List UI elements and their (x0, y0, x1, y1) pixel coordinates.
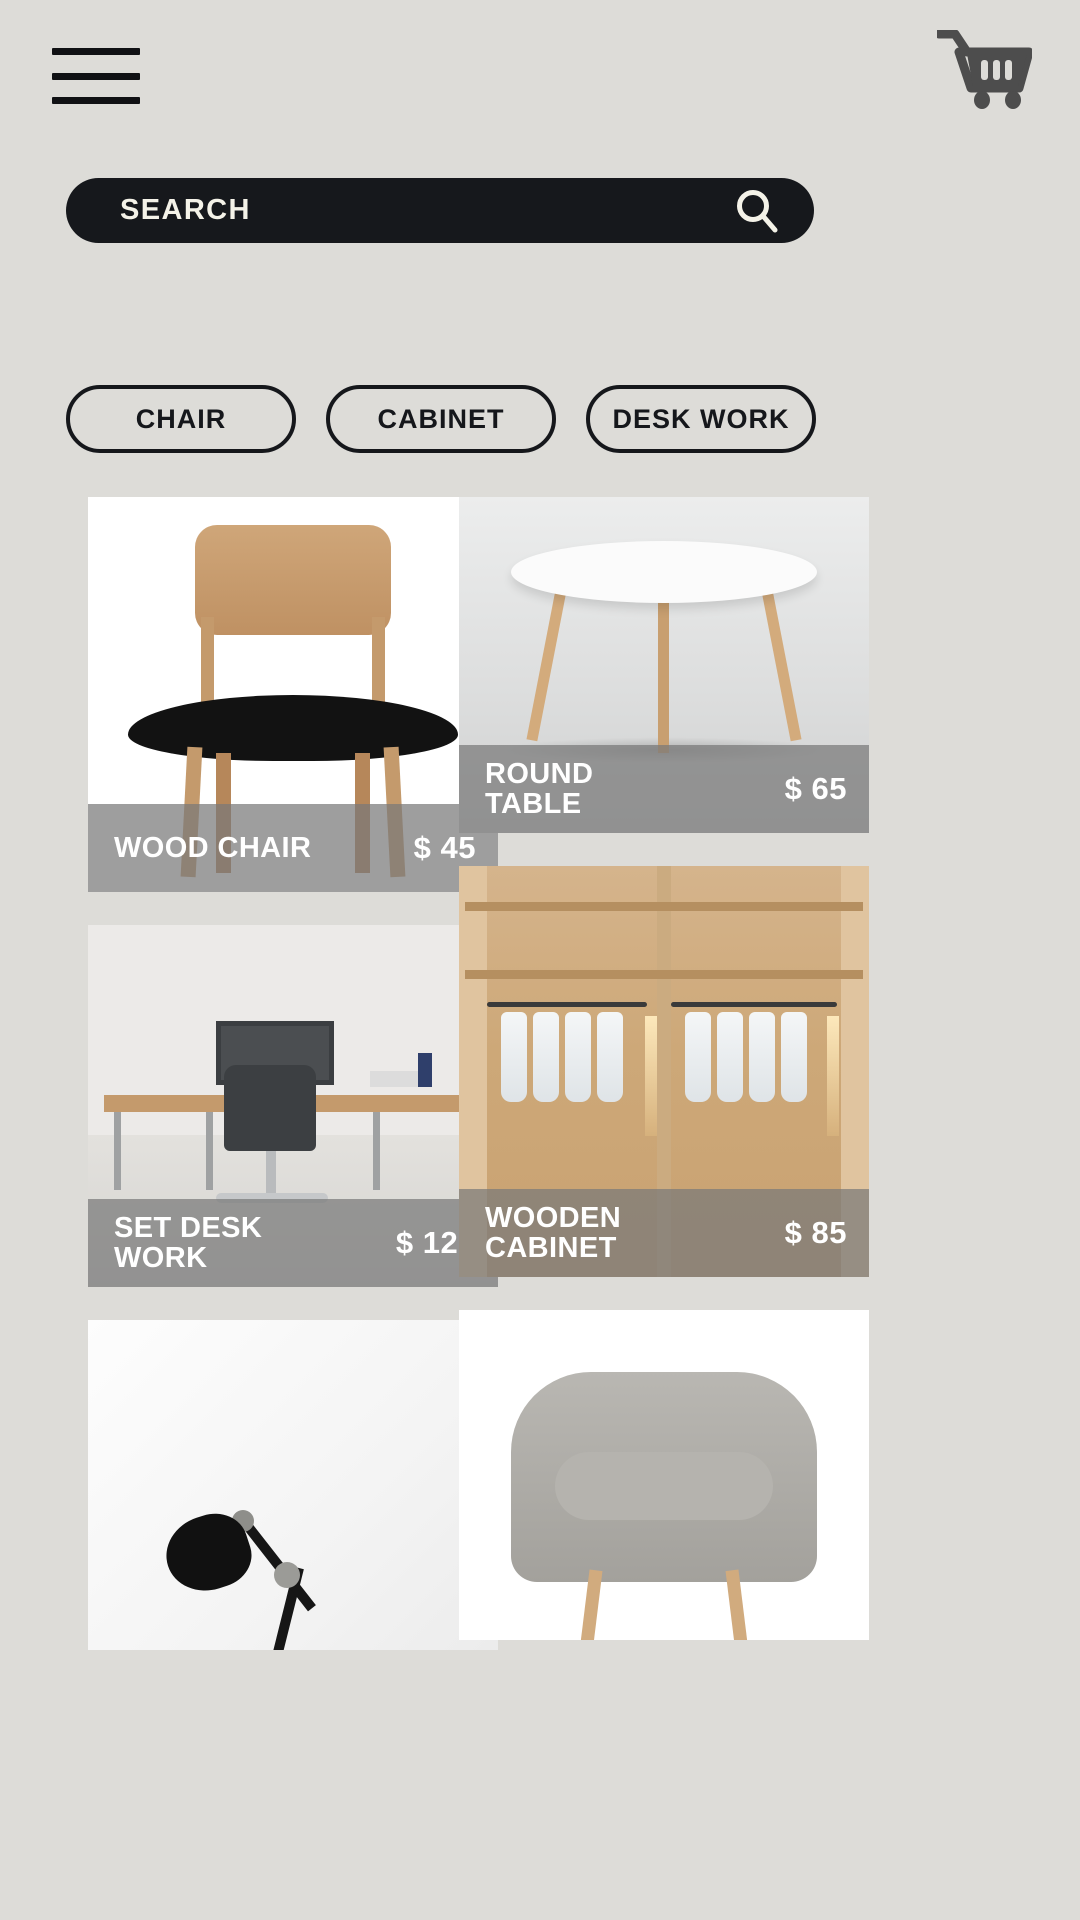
product-title: ROUND TABLE (485, 759, 695, 819)
product-price: $ 65 (785, 771, 847, 807)
category-pill-chair[interactable]: CHAIR (66, 385, 296, 453)
category-filter-list: CHAIR CABINET DESK WORK (66, 385, 1016, 453)
product-card-wood-chair[interactable]: WOOD CHAIR $ 45 (88, 497, 498, 892)
product-title: WOOD CHAIR (114, 833, 311, 863)
hamburger-bar-2 (52, 73, 140, 80)
product-label: SET DESK WORK $ 125 (88, 1199, 498, 1287)
product-column-right: ROUND TABLE $ 65 (459, 497, 869, 1640)
category-pill-cabinet[interactable]: CABINET (326, 385, 556, 453)
product-label: WOODEN CABINET $ 85 (459, 1189, 869, 1277)
cart-glyph (937, 30, 1032, 110)
product-column-left: WOOD CHAIR $ 45 (88, 497, 498, 1650)
product-price: $ 85 (785, 1215, 847, 1251)
product-title: WOODEN CABINET (485, 1203, 695, 1263)
app-screen: SEARCH CHAIR CABINET DESK WORK (0, 0, 1080, 1920)
product-title: SET DESK WORK (114, 1213, 324, 1273)
hamburger-bar-3 (52, 97, 140, 104)
product-label: ROUND TABLE $ 65 (459, 745, 869, 833)
category-label: CHAIR (136, 404, 227, 435)
magnifier-icon[interactable] (734, 188, 780, 234)
product-grid: WOOD CHAIR $ 45 (0, 497, 1080, 1920)
product-card-wooden-cabinet[interactable]: WOODEN CABINET $ 85 (459, 866, 869, 1277)
hamburger-bar-1 (52, 48, 140, 55)
hamburger-menu-icon[interactable] (52, 48, 140, 104)
category-label: DESK WORK (613, 404, 790, 435)
search-input[interactable]: SEARCH (120, 194, 734, 227)
shopping-cart-icon[interactable] (937, 30, 1032, 110)
product-card-grey-armchair[interactable] (459, 1310, 869, 1640)
product-card-desk-lamp[interactable] (88, 1320, 498, 1650)
grey-armchair-photo (459, 1310, 869, 1640)
product-card-round-table[interactable]: ROUND TABLE $ 65 (459, 497, 869, 833)
desk-lamp-photo (88, 1320, 498, 1650)
product-card-set-desk-work[interactable]: SET DESK WORK $ 125 (88, 925, 498, 1287)
category-label: CABINET (378, 404, 505, 435)
search-bar[interactable]: SEARCH (66, 178, 814, 243)
category-pill-desk-work[interactable]: DESK WORK (586, 385, 816, 453)
app-header (0, 0, 1080, 150)
product-label: WOOD CHAIR $ 45 (88, 804, 498, 892)
